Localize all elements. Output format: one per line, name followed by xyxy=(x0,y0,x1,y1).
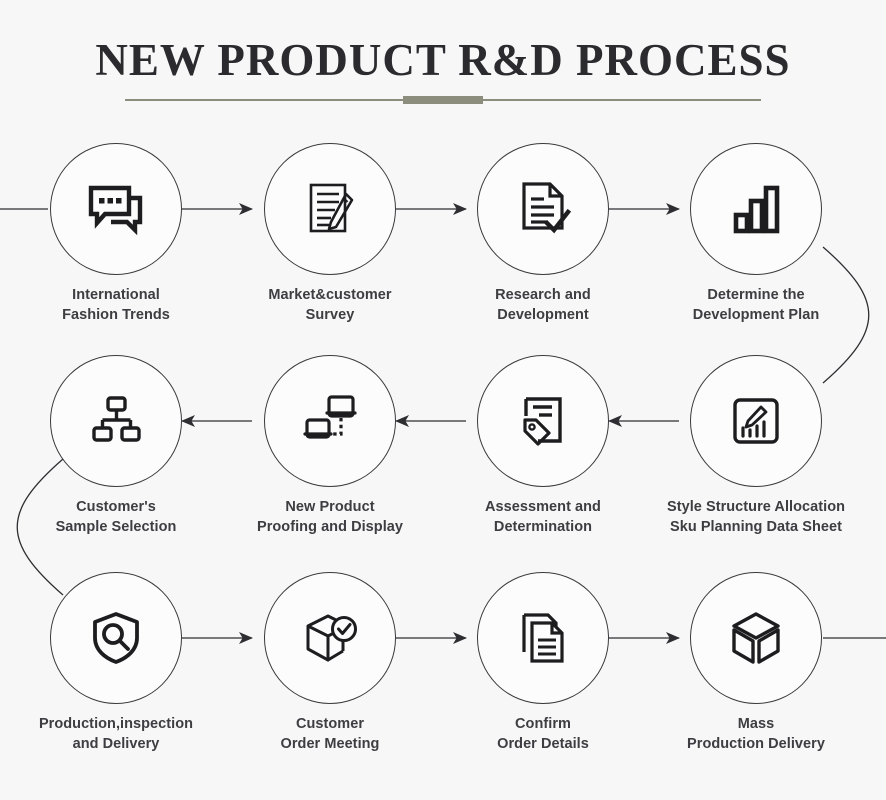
process-step-3-circle[interactable] xyxy=(477,143,609,275)
document-check-icon xyxy=(512,178,574,240)
page-title-block: NEW PRODUCT R&D PROCESS xyxy=(0,38,886,83)
process-step-2-circle[interactable] xyxy=(264,143,396,275)
process-step-7-circle[interactable] xyxy=(264,355,396,487)
process-step-1-label: International Fashion Trends xyxy=(16,286,216,325)
process-step-1[interactable]: International Fashion Trends xyxy=(16,143,216,325)
process-step-9[interactable]: Production,inspection and Delivery xyxy=(16,572,216,754)
page-title: NEW PRODUCT R&D PROCESS xyxy=(0,38,886,83)
process-step-9-label: Production,inspection and Delivery xyxy=(16,715,216,754)
box-check-icon xyxy=(299,607,361,669)
process-step-5[interactable]: Style Structure Allocation Sku Planning … xyxy=(641,355,871,537)
org-chart-icon xyxy=(85,390,147,452)
cube-3d-icon xyxy=(725,607,787,669)
documents-stack-icon xyxy=(512,607,574,669)
devices-link-icon xyxy=(299,390,361,452)
process-step-3-label: Research and Development xyxy=(443,286,643,325)
process-step-8-label: Customer's Sample Selection xyxy=(16,498,216,537)
process-step-6-circle[interactable] xyxy=(477,355,609,487)
process-step-12-circle[interactable] xyxy=(690,572,822,704)
process-step-11-label: Confirm Order Details xyxy=(443,715,643,754)
chat-bubbles-icon xyxy=(85,178,147,240)
shield-search-icon xyxy=(85,607,147,669)
process-step-5-label: Style Structure Allocation Sku Planning … xyxy=(641,498,871,537)
process-step-10[interactable]: Customer Order Meeting xyxy=(230,572,430,754)
process-step-10-circle[interactable] xyxy=(264,572,396,704)
document-tag-icon xyxy=(512,390,574,452)
process-step-11[interactable]: Confirm Order Details xyxy=(443,572,643,754)
process-step-12[interactable]: Mass Production Delivery xyxy=(656,572,856,754)
chart-pencil-sheet-icon xyxy=(725,390,787,452)
document-pencil-icon xyxy=(299,178,361,240)
process-step-9-circle[interactable] xyxy=(50,572,182,704)
process-step-11-circle[interactable] xyxy=(477,572,609,704)
bar-chart-icon xyxy=(725,178,787,240)
process-step-4-label: Determine the Development Plan xyxy=(656,286,856,325)
process-step-1-circle[interactable] xyxy=(50,143,182,275)
process-step-4[interactable]: Determine the Development Plan xyxy=(656,143,856,325)
process-step-6-label: Assessment and Determination xyxy=(443,498,643,537)
process-step-12-label: Mass Production Delivery xyxy=(656,715,856,754)
title-divider-accent xyxy=(403,96,483,104)
process-step-3[interactable]: Research and Development xyxy=(443,143,643,325)
process-flow-diagram: NEW PRODUCT R&D PROCESS xyxy=(0,0,886,800)
process-step-6[interactable]: Assessment and Determination xyxy=(443,355,643,537)
process-step-4-circle[interactable] xyxy=(690,143,822,275)
process-step-7[interactable]: New Product Proofing and Display xyxy=(230,355,430,537)
process-step-8-circle[interactable] xyxy=(50,355,182,487)
process-step-10-label: Customer Order Meeting xyxy=(230,715,430,754)
process-step-8[interactable]: Customer's Sample Selection xyxy=(16,355,216,537)
process-step-5-circle[interactable] xyxy=(690,355,822,487)
process-step-7-label: New Product Proofing and Display xyxy=(230,498,430,537)
process-step-2-label: Market&customer Survey xyxy=(230,286,430,325)
process-step-2[interactable]: Market&customer Survey xyxy=(230,143,430,325)
